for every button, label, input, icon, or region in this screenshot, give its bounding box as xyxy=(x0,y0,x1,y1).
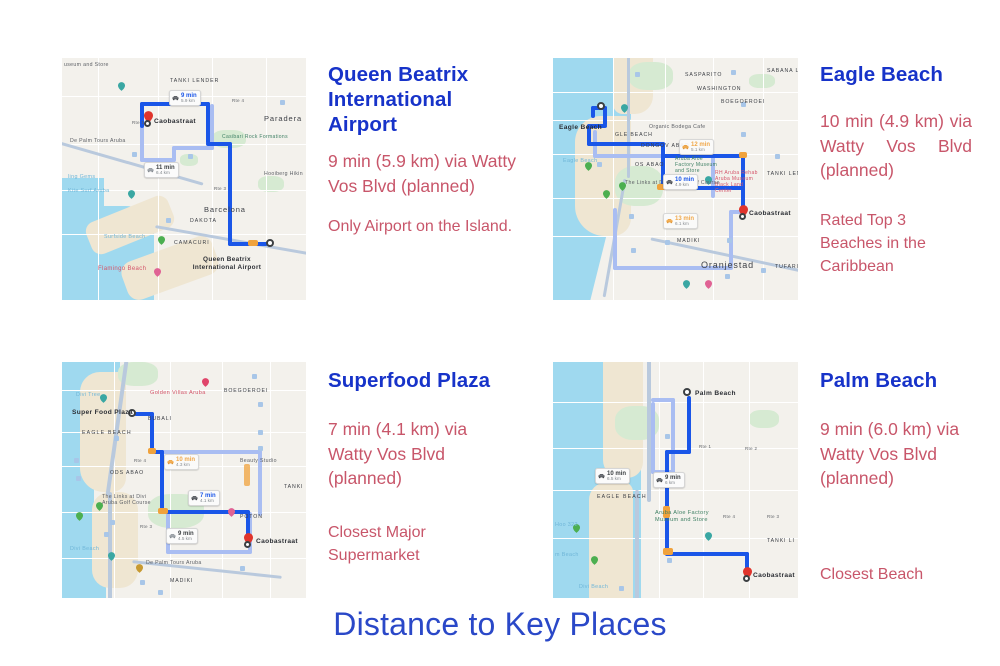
route-badge-primary[interactable]: 9 min6 km xyxy=(653,472,685,488)
panel-text-eagle-beach: Eagle Beach 10 min (4.9 km) via Watty Vo… xyxy=(798,58,993,300)
badge-distance: 5.9 km xyxy=(181,99,197,104)
badge-distance: 4.1 km xyxy=(200,499,216,504)
poster-title: Distance to Key Places xyxy=(0,606,1000,643)
origin-label: Palm Beach xyxy=(695,390,736,397)
route-badge-alt[interactable]: 11 min6.4 km xyxy=(144,162,179,178)
badge-distance: 6.5 km xyxy=(607,477,626,482)
route-summary: 9 min (5.9 km) via Watty Vos Blvd (plann… xyxy=(328,149,517,198)
panel-superfood-plaza: Golden Villas Aruba BOEGOEROEI Super Foo… xyxy=(62,362,517,598)
panel-text-superfood-plaza: Superfood Plaza 7 min (4.1 km) via Watty… xyxy=(306,362,517,598)
route-badge-alt[interactable]: 10 min6.5 km xyxy=(595,468,630,484)
route-badge-primary[interactable]: 10 min4.9 km xyxy=(663,174,698,190)
origin-marker xyxy=(683,388,691,396)
place-title: Eagle Beach xyxy=(820,62,993,87)
badge-distance: 4.5 km xyxy=(178,537,194,542)
origin-marker xyxy=(597,102,605,110)
map-palm-beach[interactable]: Palm Beach EAGLE BEACH Aruba Aloe Factor… xyxy=(553,362,798,598)
place-note: Closest Beach xyxy=(820,563,993,586)
route-badge-primary[interactable]: 7 min4.1 km xyxy=(188,490,220,506)
destination-label: Caobastraat xyxy=(753,572,795,579)
origin-label: Super Food Plaza xyxy=(72,409,133,416)
badge-distance: 6.1 km xyxy=(675,222,694,227)
map-airport[interactable]: useum and Store TANKI LENDER Paradera Ca… xyxy=(62,58,306,300)
panel-eagle-beach: SASPARITO WASHINGTON BOEGOEROEI SABANA L… xyxy=(553,58,993,300)
map-superfood-plaza[interactable]: Golden Villas Aruba BOEGOEROEI Super Foo… xyxy=(62,362,306,598)
panel-text-airport: Queen Beatrix International Airport 9 mi… xyxy=(306,58,517,300)
route-badge-alt-2[interactable]: 9 min4.5 km xyxy=(166,528,198,544)
badge-distance: 4.3 km xyxy=(176,463,195,468)
badge-distance: 5.1 km xyxy=(691,148,710,153)
place-note: Closest Major Supermarket xyxy=(328,521,458,567)
panel-palm-beach: Palm Beach EAGLE BEACH Aruba Aloe Factor… xyxy=(553,362,993,598)
origin-label: Eagle Beach xyxy=(559,124,602,131)
route-badge-alt-1[interactable]: 12 min5.1 km xyxy=(679,139,714,155)
place-title: Palm Beach xyxy=(820,368,993,393)
panel-text-palm-beach: Palm Beach 9 min (6.0 km) via Watty Vos … xyxy=(798,362,993,598)
destination-label: Caobastraat xyxy=(154,118,196,125)
place-title: Queen Beatrix International Airport xyxy=(328,62,517,137)
badge-distance: 6.4 km xyxy=(156,171,175,176)
place-title: Superfood Plaza xyxy=(328,368,517,393)
route-badge-primary[interactable]: 9 min5.9 km xyxy=(169,90,201,106)
route-badge-alt-2[interactable]: 13 min6.1 km xyxy=(663,213,698,229)
route-badge-alt-1[interactable]: 10 min4.3 km xyxy=(164,454,199,470)
destination-label: Caobastraat xyxy=(256,538,298,545)
badge-distance: 6 km xyxy=(665,481,681,486)
route-summary: 7 min (4.1 km) via Watty Vos Blvd (plann… xyxy=(328,417,480,491)
panel-airport: useum and Store TANKI LENDER Paradera Ca… xyxy=(62,58,517,300)
badge-distance: 4.9 km xyxy=(675,183,694,188)
place-note: Rated Top 3 Beaches in the Caribbean xyxy=(820,209,950,278)
route-summary: 10 min (4.9 km) via Watty Vos Blvd (plan… xyxy=(820,109,972,183)
origin-label: Queen Beatrix International Airport xyxy=(192,256,262,271)
map-eagle-beach[interactable]: SASPARITO WASHINGTON BOEGOEROEI SABANA L… xyxy=(553,58,798,300)
destination-label: Caobastraat xyxy=(749,210,791,217)
origin-marker xyxy=(266,239,274,247)
place-note: Only Airport on the Island. xyxy=(328,215,517,238)
route-summary: 9 min (6.0 km) via Watty Vos Blvd (plann… xyxy=(820,417,972,491)
poster-root: useum and Store TANKI LENDER Paradera Ca… xyxy=(0,0,1000,666)
